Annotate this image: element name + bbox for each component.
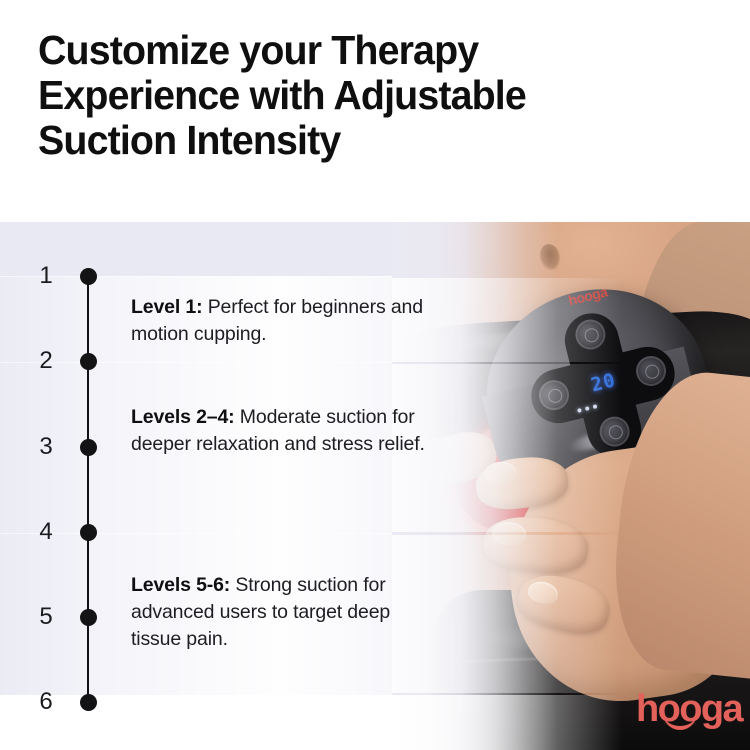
timeline-dot-6[interactable] [80, 694, 97, 711]
timeline-dot-1[interactable] [80, 268, 97, 285]
level-description-1-label: Level 1: [131, 296, 202, 318]
page-title-line-3: Suction Intensity [38, 118, 700, 163]
level-description-2: Levels 2–4: Moderate suction for deeper … [131, 404, 441, 458]
timeline-dot-5[interactable] [80, 609, 97, 626]
page-title-line-1: Customize your Therapy [38, 28, 700, 73]
level-description-1: Level 1: Perfect for beginners and motio… [131, 294, 441, 348]
timeline-dot-2[interactable] [80, 353, 97, 370]
level-description-3: Levels 5-6: Strong suction for advanced … [131, 572, 441, 653]
page-title-line-2: Experience with Adjustable [38, 73, 700, 118]
product-photo: 20 hooga [392, 222, 750, 750]
timeline-label-3: 3 [30, 432, 62, 462]
intensity-levels-panel: 20 hooga 1 2 [0, 222, 750, 750]
timeline-label-2: 2 [30, 346, 62, 376]
level-description-2-label: Levels 2–4: [131, 406, 235, 428]
timeline-line [87, 276, 89, 702]
timeline-dot-3[interactable] [80, 439, 97, 456]
timeline-label-4: 4 [30, 517, 62, 547]
timeline-dot-4[interactable] [80, 524, 97, 541]
timeline-label-5: 5 [30, 602, 62, 632]
timeline-label-6: 6 [30, 687, 62, 717]
timeline-label-1: 1 [30, 261, 62, 291]
page-title: Customize your Therapy Experience with A… [38, 28, 700, 163]
level-description-3-label: Levels 5-6: [131, 574, 230, 596]
